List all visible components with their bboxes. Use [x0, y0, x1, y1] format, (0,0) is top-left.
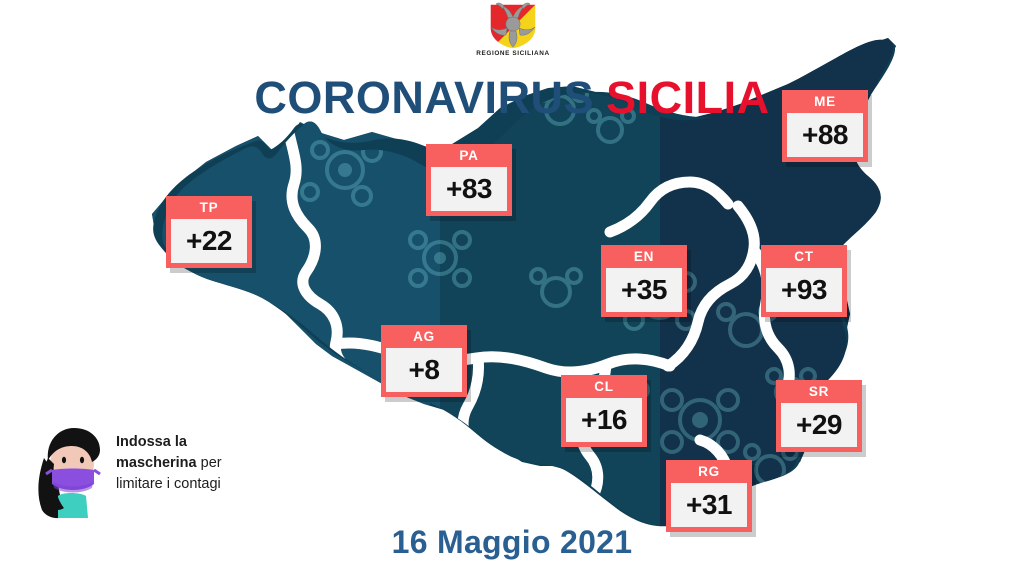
- province-value-ct: +93: [766, 268, 842, 312]
- province-value-rg: +31: [671, 483, 747, 527]
- province-value-en: +35: [606, 268, 682, 312]
- infographic-canvas: REGIONE SICILIANA CORONAVIRUSSICILIA TP+…: [0, 0, 1024, 576]
- masked-person-icon: [28, 418, 108, 520]
- province-value-pa: +83: [431, 167, 507, 211]
- province-box-cl: CL+16: [561, 375, 647, 447]
- province-code-pa: PA: [426, 144, 512, 167]
- province-code-ag: AG: [381, 325, 467, 348]
- province-box-en: EN+35: [601, 245, 687, 317]
- mask-line-3: limitare i contagi: [116, 476, 221, 492]
- province-box-pa: PA+83: [426, 144, 512, 216]
- mask-line-2-rest: per: [197, 455, 222, 471]
- province-value-me: +88: [787, 113, 863, 157]
- province-code-tp: TP: [166, 196, 252, 219]
- province-code-ct: CT: [761, 245, 847, 268]
- province-box-rg: RG+31: [666, 460, 752, 532]
- page-title: CORONAVIRUSSICILIA: [0, 72, 1024, 124]
- province-value-sr: +29: [781, 403, 857, 447]
- mask-line-2-bold: mascherina: [116, 455, 197, 471]
- province-value-ag: +8: [386, 348, 462, 392]
- province-code-en: EN: [601, 245, 687, 268]
- province-code-me: ME: [782, 90, 868, 113]
- mask-line-1: Indossa la: [116, 434, 187, 450]
- trinacria-icon: [480, 2, 546, 50]
- mask-notice-text: Indossa la mascherina per limitare i con…: [116, 432, 286, 495]
- province-code-sr: SR: [776, 380, 862, 403]
- date-label: 16 Maggio 2021: [0, 524, 1024, 561]
- title-accent: SICILIA: [606, 72, 770, 123]
- province-box-me: ME+88: [782, 90, 868, 162]
- province-value-tp: +22: [171, 219, 247, 263]
- province-value-cl: +16: [566, 398, 642, 442]
- province-box-ct: CT+93: [761, 245, 847, 317]
- logo-caption: REGIONE SICILIANA: [458, 50, 568, 57]
- province-box-ag: AG+8: [381, 325, 467, 397]
- title-main: CORONAVIRUS: [254, 72, 594, 123]
- mask-notice: Indossa la mascherina per limitare i con…: [28, 418, 278, 522]
- province-code-rg: RG: [666, 460, 752, 483]
- province-code-cl: CL: [561, 375, 647, 398]
- province-box-sr: SR+29: [776, 380, 862, 452]
- province-box-tp: TP+22: [166, 196, 252, 268]
- regione-siciliana-logo: REGIONE SICILIANA: [480, 2, 546, 64]
